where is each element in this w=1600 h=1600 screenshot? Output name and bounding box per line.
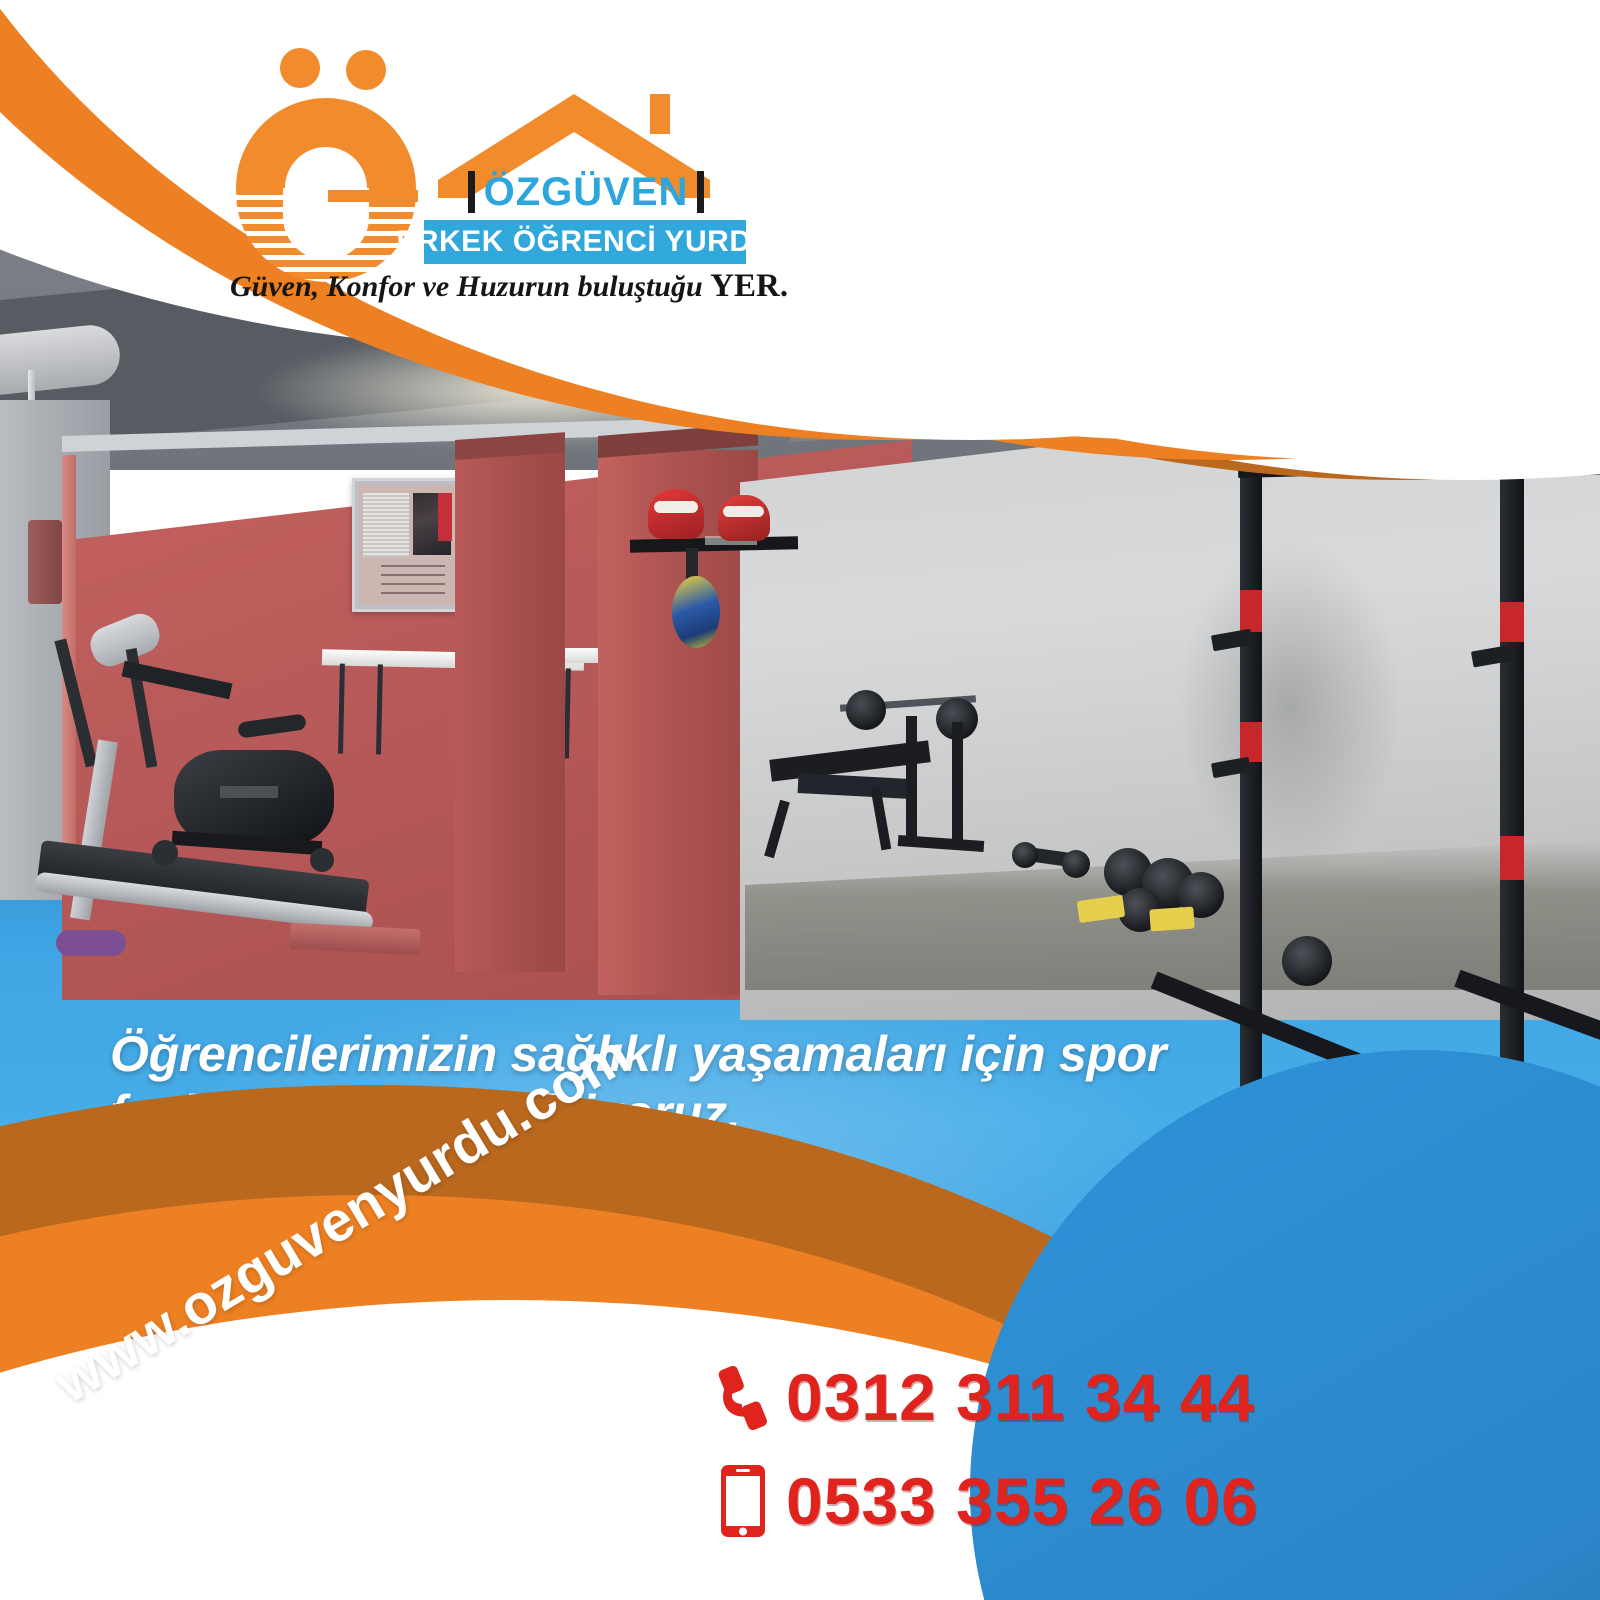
rack-base-plate bbox=[1282, 936, 1332, 986]
boxing-glove-right bbox=[718, 495, 770, 541]
contact-row-mobile[interactable]: 0533 355 26 06 bbox=[700, 1449, 1420, 1553]
tagline-plain: Güven, Konfor ve Huzurun buluştuğu bbox=[230, 270, 710, 303]
g-monogram-crossbar bbox=[328, 190, 418, 202]
headline-line-1: Öğrencilerimizin sağlıklı yaşamaları içi… bbox=[110, 1025, 1350, 1084]
poster-canvas: ÖZGÜVEN ERKEK ÖĞRENCİ YURDU Güven, Konfo… bbox=[0, 0, 1600, 1600]
umlaut-dot-right-icon bbox=[346, 50, 386, 90]
brand-name-bottom-bar: ERKEK ÖĞRENCİ YURDU bbox=[424, 220, 746, 264]
boxing-glove-left bbox=[648, 489, 704, 539]
umlaut-dot-left-icon bbox=[280, 48, 320, 88]
right-wall-shadow bbox=[1180, 540, 1400, 870]
bench-rack-post-b bbox=[952, 722, 963, 848]
mobile-number: 0533 355 26 06 bbox=[786, 1463, 1259, 1539]
yellow-wedge-2 bbox=[1149, 906, 1194, 931]
bench-rack-post-a bbox=[906, 716, 917, 846]
elliptical-wheel-right bbox=[310, 848, 334, 872]
brand-name-bottom-label: ERKEK ÖĞRENCİ YURDU bbox=[396, 225, 773, 259]
column-left bbox=[455, 452, 565, 972]
poster-text-block bbox=[363, 493, 409, 557]
divider-bar-left bbox=[468, 171, 475, 213]
elliptical-brand bbox=[220, 786, 278, 798]
brand-logo[interactable]: ÖZGÜVEN ERKEK ÖĞRENCİ YURDU Güven, Konfo… bbox=[228, 40, 758, 315]
mobile-phone-icon bbox=[700, 1463, 786, 1539]
squat-rack-marker-b bbox=[1240, 722, 1262, 762]
landline-number: 0312 311 34 44 bbox=[786, 1359, 1255, 1435]
squat-rack-marker-d bbox=[1500, 836, 1524, 880]
brand-name-top-label: ÖZGÜVEN bbox=[484, 172, 689, 212]
squat-rack-post-right bbox=[1500, 470, 1524, 1130]
ab-roller bbox=[56, 930, 126, 956]
speed-bag bbox=[672, 576, 720, 648]
squat-rack-marker-a bbox=[1240, 590, 1262, 632]
brand-name-top: ÖZGÜVEN bbox=[436, 166, 736, 218]
dumbbell-plate-l bbox=[1012, 842, 1038, 868]
brand-tagline: Güven, Konfor ve Huzurun buluştuğu YER. bbox=[230, 268, 750, 305]
poster-signature-lines bbox=[381, 565, 445, 599]
contact-row-landline[interactable]: 0312 311 34 44 bbox=[700, 1345, 1420, 1449]
handlebar-left bbox=[54, 638, 97, 767]
squat-rack-marker-c bbox=[1500, 602, 1524, 642]
contact-block: 0312 311 34 44 0533 355 26 06 bbox=[700, 1345, 1420, 1553]
fire-extinguisher-box bbox=[28, 520, 62, 604]
divider-bar-right bbox=[697, 171, 704, 213]
ataturk-poster-frame bbox=[352, 478, 463, 612]
turkish-flag bbox=[438, 493, 452, 541]
barbell-plate-left bbox=[846, 690, 886, 730]
dumbbell-plate-r bbox=[1062, 850, 1090, 878]
phone-handset-icon bbox=[700, 1364, 786, 1430]
elliptical-wheel-left bbox=[152, 840, 178, 866]
tagline-emphasis: YER. bbox=[710, 268, 788, 304]
elliptical-trainer bbox=[146, 740, 366, 900]
